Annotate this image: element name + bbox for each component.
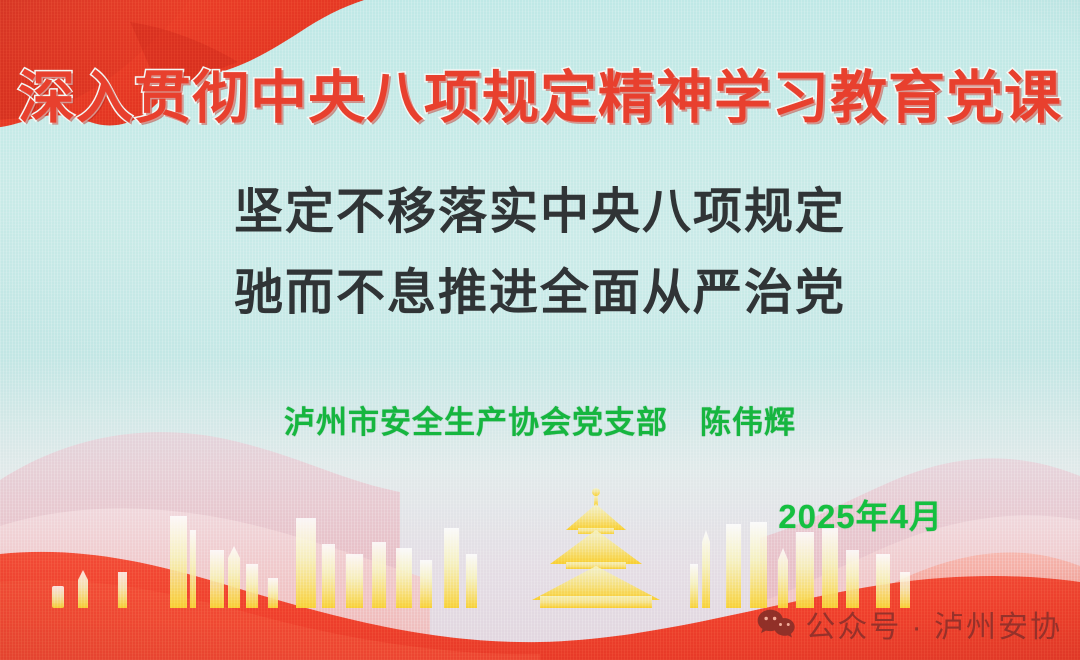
subtitle-line-2: 驰而不息推进全面从严治党 — [0, 253, 1080, 324]
wechat-icon — [757, 609, 795, 639]
presenter-line: 泸州市安全生产协会党支部 陈伟辉 — [0, 397, 1080, 442]
date-label: 2025年4月 — [778, 490, 943, 538]
decor-city-skyline — [0, 468, 1080, 608]
subtitle-line-1: 坚定不移落实中央八项规定 — [0, 172, 1080, 243]
temple-of-heaven-silhouette — [532, 488, 660, 608]
presentation-slide: 深入贯彻中央八项规定精神学习教育党课 坚定不移落实中央八项规定 驰而不息推进全面… — [0, 0, 1080, 660]
watermark-label: 公众号 · 泸州安协 — [805, 602, 1062, 646]
watermark: 公众号 · 泸州安协 — [757, 602, 1062, 646]
main-title: 深入贯彻中央八项规定精神学习教育党课 — [0, 52, 1080, 134]
